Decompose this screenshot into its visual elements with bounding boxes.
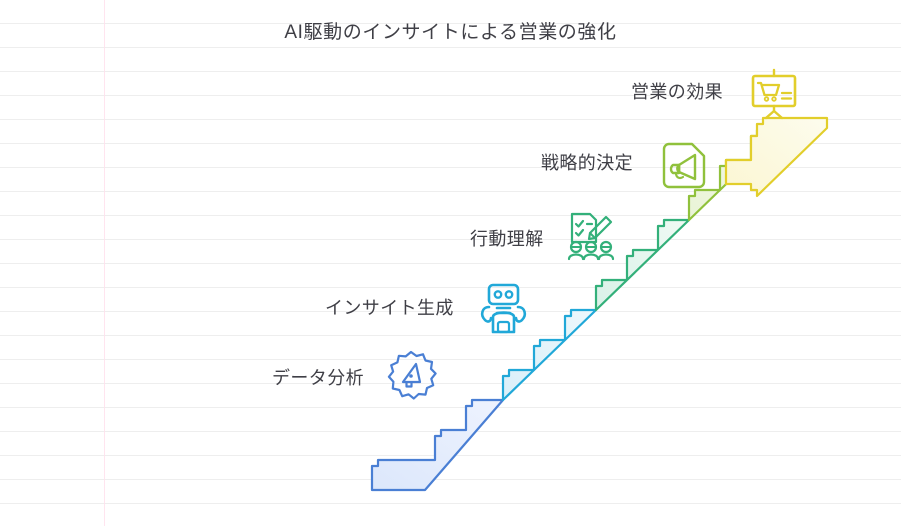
gear-megaphone-icon (389, 352, 436, 399)
step-label-sales-effectiveness: 営業の効果 (631, 81, 723, 103)
staircase-graphic (0, 0, 901, 526)
step-label-strategic-decision: 戦略的決定 (541, 152, 633, 174)
stair-section-1 (372, 400, 503, 490)
stair-section-3 (596, 220, 689, 310)
stair-section-2 (503, 310, 596, 400)
checklist-people-icon (569, 214, 613, 259)
megaphone-document-icon (664, 144, 704, 187)
robot-icon (482, 285, 525, 332)
presentation-cart-icon (753, 70, 795, 118)
diagram-canvas: AI駆動のインサイトによる営業の強化 (0, 0, 901, 526)
step-label-insight-generation: インサイト生成 (325, 297, 454, 319)
stair-section-5 (689, 118, 827, 220)
step-label-data-analysis: データ分析 (272, 367, 364, 389)
step-label-behavior-understanding: 行動理解 (470, 228, 544, 250)
